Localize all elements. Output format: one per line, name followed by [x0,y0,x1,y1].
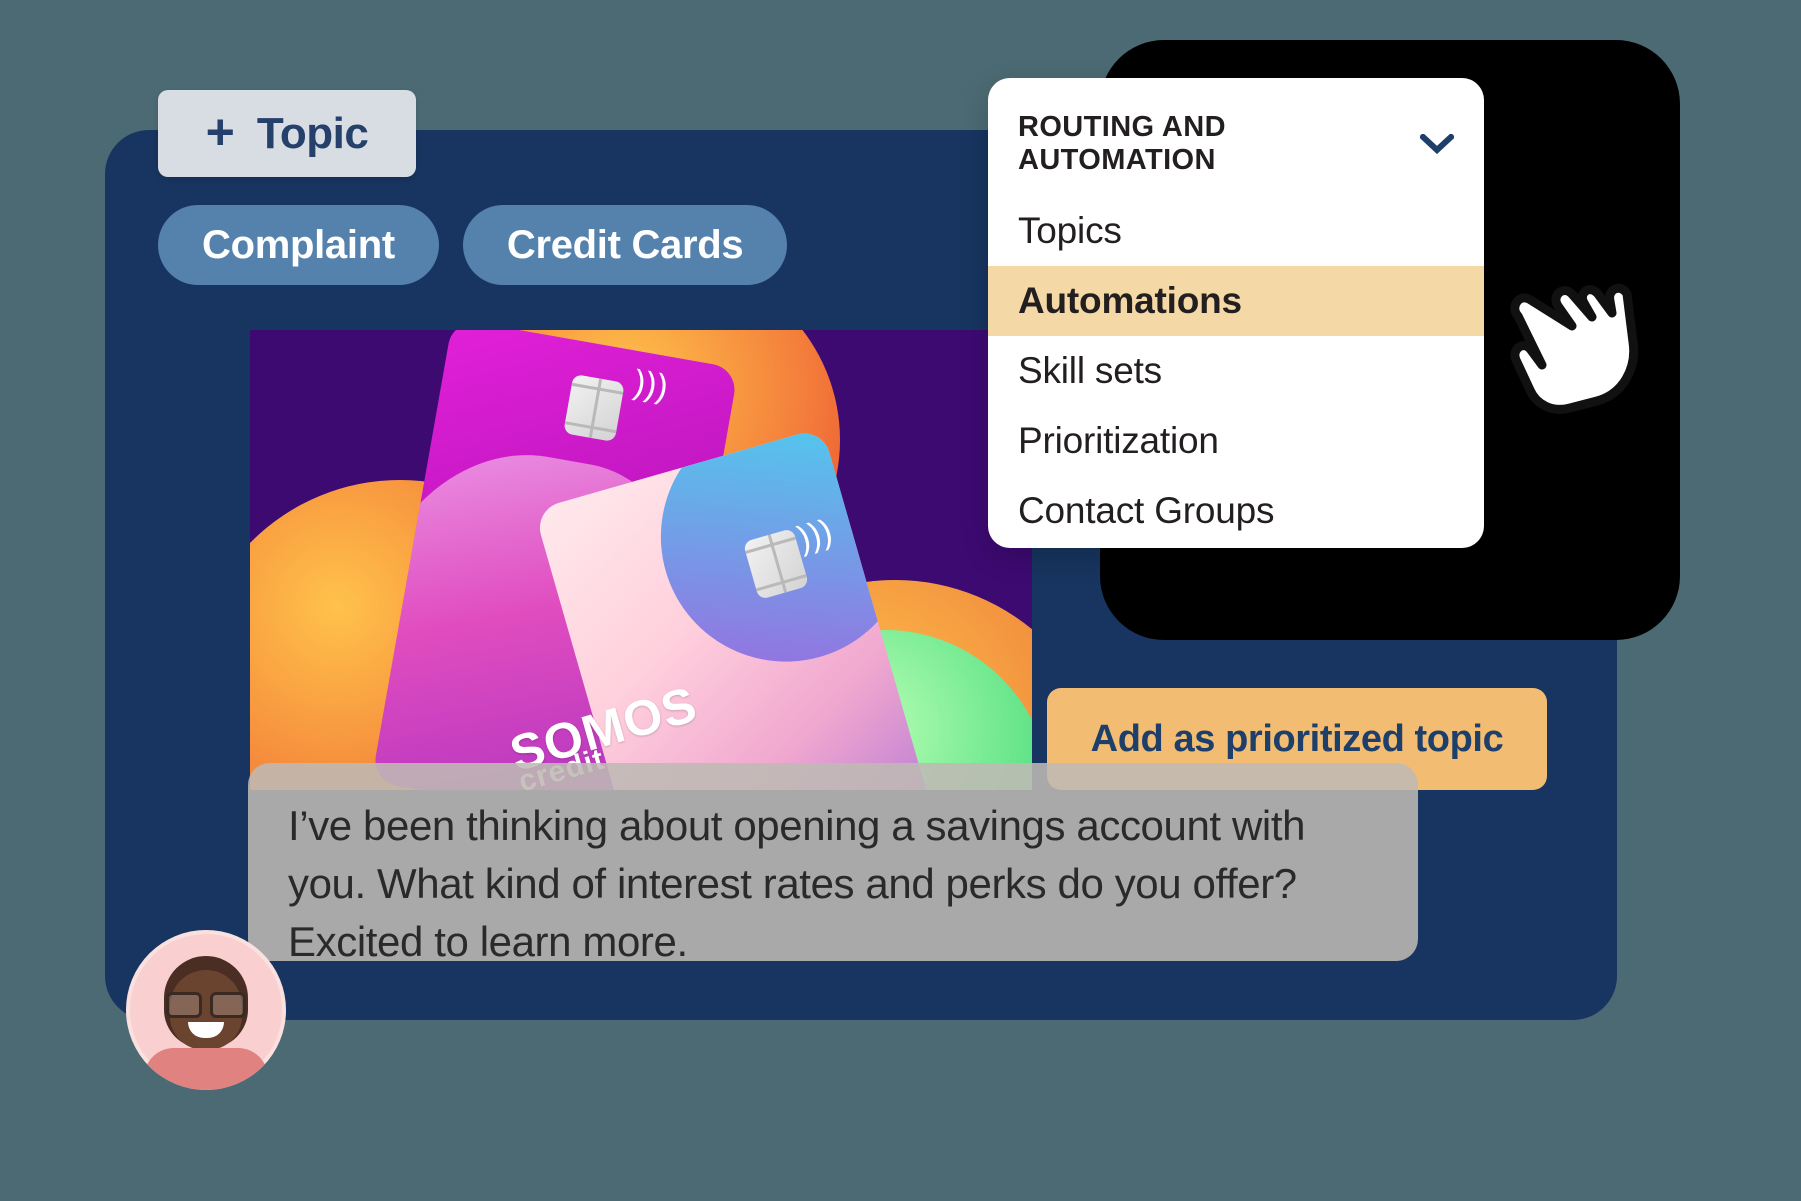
menu-item-automations[interactable]: Automations [988,266,1484,336]
add-topic-button[interactable]: + Topic [158,90,416,177]
tag-pill-row: Complaint Credit Cards [158,205,787,285]
menu-item-label: Skill sets [1018,350,1162,392]
menu-item-label: Automations [1018,280,1242,322]
screen: + Topic Complaint Credit Cards ))) ))) S… [0,0,1801,1201]
menu-item-prioritization[interactable]: Prioritization [988,406,1484,476]
plus-icon: + [206,107,235,157]
menu-item-contact-groups[interactable]: Contact Groups [988,476,1484,546]
chat-message-text: I’ve been thinking about opening a savin… [288,797,1372,971]
glasses-icon [166,992,246,1012]
menu-item-label: Contact Groups [1018,490,1274,532]
avatar [126,930,286,1090]
chevron-down-icon[interactable] [1420,134,1454,154]
dropdown-header[interactable]: ROUTING AND AUTOMATION [988,116,1484,172]
contactless-wave-icon: ))) [631,365,670,404]
emv-chip-icon [563,374,625,442]
menu-item-topics[interactable]: Topics [988,196,1484,266]
routing-automation-dropdown: ROUTING AND AUTOMATION Topics Automation… [988,78,1484,548]
prioritized-topic-label: Add as prioritized topic [1091,718,1504,761]
pointing-hand-cursor-icon [1500,268,1640,418]
dropdown-header-label: ROUTING AND AUTOMATION [1018,111,1420,177]
dropdown-menu-list: Topics Automations Skill sets Prioritiza… [988,196,1484,546]
tag-pill-label: Complaint [202,223,395,268]
menu-item-label: Prioritization [1018,420,1219,462]
credit-card-artwork: ))) ))) SOMOS credit [250,330,1032,790]
chat-message-bubble: I’ve been thinking about opening a savin… [248,763,1418,961]
avatar-shirt [144,1048,268,1090]
add-topic-label: Topic [257,109,369,159]
tag-pill-credit-cards[interactable]: Credit Cards [463,205,787,285]
tag-pill-label: Credit Cards [507,223,743,268]
menu-item-label: Topics [1018,210,1122,252]
menu-item-skill-sets[interactable]: Skill sets [988,336,1484,406]
tag-pill-complaint[interactable]: Complaint [158,205,439,285]
